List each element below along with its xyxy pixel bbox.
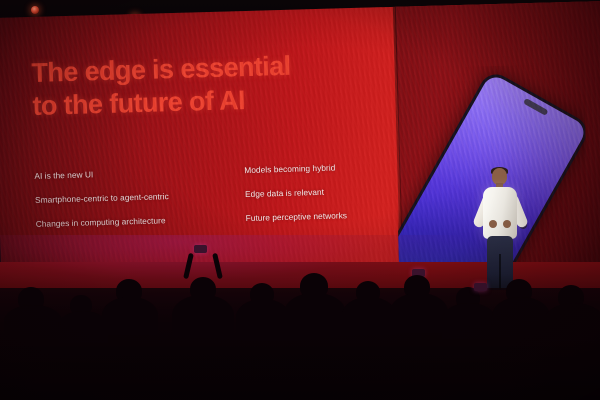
audience-shoulders [172,295,234,337]
audience-raised-phone [474,283,487,291]
audience-shoulders [102,297,158,335]
audience-silhouettes [0,235,600,400]
audience-shoulders [442,303,496,339]
presenter-torso [483,187,517,239]
audience-shoulders [58,311,108,343]
audience-shoulders [342,297,396,335]
audience-shoulders [492,297,550,337]
presenter-hand-right [503,220,511,228]
audience-raised-phone [194,245,207,253]
audience-shoulders [4,305,62,339]
keynote-stage-photo: The edge is essential to the future of A… [0,0,600,400]
audience-shoulders [284,293,346,335]
presenter-hand-left [489,220,497,228]
audience-shoulders [390,293,448,333]
audience-shoulders [544,303,600,341]
audience-shoulders [236,299,290,337]
